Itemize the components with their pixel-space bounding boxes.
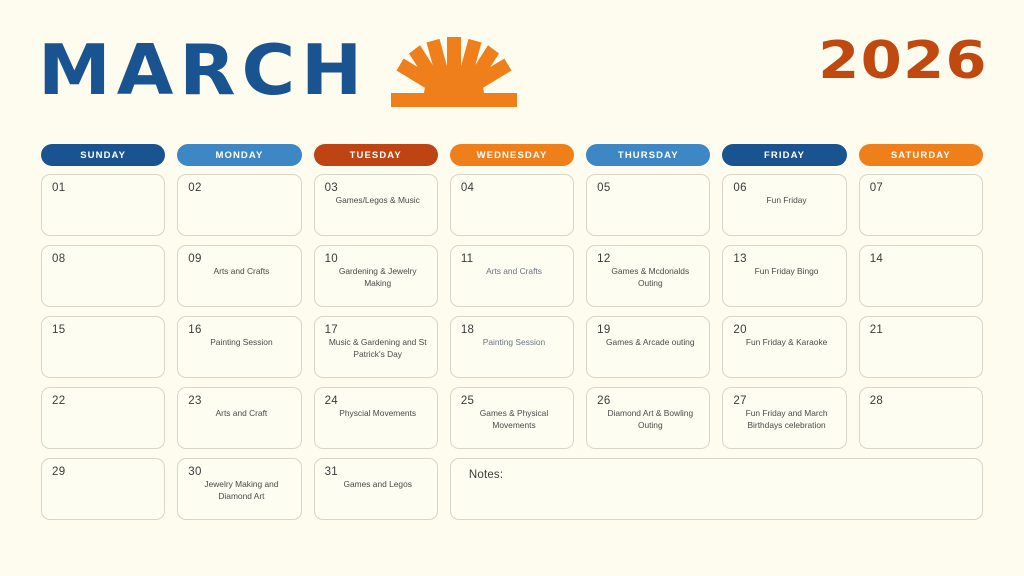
- day-cell-26[interactable]: 26Diamond Art & Bowling Outing: [586, 387, 710, 449]
- day-cell-09[interactable]: 09Arts and Crafts: [177, 245, 301, 307]
- day-cell-15[interactable]: 15: [41, 316, 165, 378]
- month-title: MARCH: [38, 28, 368, 113]
- day-event-text: Fun Friday and March Birthdays celebrati…: [733, 408, 839, 431]
- day-event-text: Arts and Craft: [188, 408, 294, 420]
- day-event-text: Games & Mcdonalds Outing: [597, 266, 703, 289]
- day-number: 11: [461, 253, 567, 266]
- day-event-text: Painting Session: [188, 337, 294, 349]
- day-header-monday: MONDAY: [177, 144, 301, 166]
- day-cell-14[interactable]: 14: [859, 245, 983, 307]
- day-cell-31[interactable]: 31Games and Legos: [314, 458, 438, 520]
- day-number: 27: [733, 395, 839, 408]
- day-number: 28: [870, 395, 976, 408]
- day-cell-27[interactable]: 27Fun Friday and March Birthdays celebra…: [722, 387, 846, 449]
- calendar-week-row: 2223Arts and Craft24Physcial Movements25…: [41, 387, 983, 449]
- day-cell-25[interactable]: 25Games & Physical Movements: [450, 387, 574, 449]
- day-event-text: Jewelry Making and Diamond Art: [188, 479, 294, 502]
- day-cell-19[interactable]: 19Games & Arcade outing: [586, 316, 710, 378]
- day-cell-10[interactable]: 10Gardening & Jewelry Making: [314, 245, 438, 307]
- day-cell-08[interactable]: 08: [41, 245, 165, 307]
- day-number: 29: [52, 466, 158, 479]
- day-cell-17[interactable]: 17Music & Gardening and St Patrick's Day: [314, 316, 438, 378]
- day-cell-29[interactable]: 29: [41, 458, 165, 520]
- day-number: 03: [325, 182, 431, 195]
- day-event-text: Fun Friday: [733, 195, 839, 207]
- day-number: 02: [188, 182, 294, 195]
- day-number: 01: [52, 182, 158, 195]
- day-cell-22[interactable]: 22: [41, 387, 165, 449]
- day-number: 23: [188, 395, 294, 408]
- notes-box[interactable]: Notes:: [450, 458, 983, 520]
- calendar-page: MARCH 2026 SUNDAYMONDAYTUESDAYWEDNESDAYT…: [0, 0, 1024, 576]
- day-number: 09: [188, 253, 294, 266]
- calendar-week-row: 010203Games/Legos & Music040506Fun Frida…: [41, 174, 983, 236]
- day-cell-07[interactable]: 07: [859, 174, 983, 236]
- day-header-friday: FRIDAY: [722, 144, 846, 166]
- day-event-text: Painting Session: [461, 337, 567, 349]
- day-header-sunday: SUNDAY: [41, 144, 165, 166]
- day-number: 31: [325, 466, 431, 479]
- day-number: 25: [461, 395, 567, 408]
- day-number: 12: [597, 253, 703, 266]
- day-cell-16[interactable]: 16Painting Session: [177, 316, 301, 378]
- day-header-saturday: SATURDAY: [859, 144, 983, 166]
- day-of-week-header-row: SUNDAYMONDAYTUESDAYWEDNESDAYTHURSDAYFRID…: [41, 144, 983, 166]
- day-number: 22: [52, 395, 158, 408]
- day-event-text: Music & Gardening and St Patrick's Day: [325, 337, 431, 360]
- day-number: 26: [597, 395, 703, 408]
- day-cell-18[interactable]: 18Painting Session: [450, 316, 574, 378]
- day-number: 07: [870, 182, 976, 195]
- day-event-text: Games and Legos: [325, 479, 431, 491]
- day-cell-30[interactable]: 30Jewelry Making and Diamond Art: [177, 458, 301, 520]
- day-cell-24[interactable]: 24Physcial Movements: [314, 387, 438, 449]
- day-number: 18: [461, 324, 567, 337]
- day-event-text: Fun Friday Bingo: [733, 266, 839, 278]
- day-number: 30: [188, 466, 294, 479]
- day-cell-21[interactable]: 21: [859, 316, 983, 378]
- day-cell-04[interactable]: 04: [450, 174, 574, 236]
- calendar-header: MARCH 2026: [0, 0, 1024, 132]
- day-event-text: Games & Arcade outing: [597, 337, 703, 349]
- day-cell-23[interactable]: 23Arts and Craft: [177, 387, 301, 449]
- day-number: 14: [870, 253, 976, 266]
- year-title: 2026: [818, 30, 988, 92]
- day-number: 15: [52, 324, 158, 337]
- day-cell-20[interactable]: 20Fun Friday & Karaoke: [722, 316, 846, 378]
- day-cell-01[interactable]: 01: [41, 174, 165, 236]
- day-header-thursday: THURSDAY: [586, 144, 710, 166]
- day-number: 17: [325, 324, 431, 337]
- day-number: 10: [325, 253, 431, 266]
- day-cell-05[interactable]: 05: [586, 174, 710, 236]
- day-cell-02[interactable]: 02: [177, 174, 301, 236]
- day-cell-12[interactable]: 12Games & Mcdonalds Outing: [586, 245, 710, 307]
- calendar-week-row: 0809Arts and Crafts10Gardening & Jewelry…: [41, 245, 983, 307]
- day-number: 24: [325, 395, 431, 408]
- day-cell-28[interactable]: 28: [859, 387, 983, 449]
- day-number: 13: [733, 253, 839, 266]
- day-header-wednesday: WEDNESDAY: [450, 144, 574, 166]
- day-cell-03[interactable]: 03Games/Legos & Music: [314, 174, 438, 236]
- day-number: 06: [733, 182, 839, 195]
- day-number: 04: [461, 182, 567, 195]
- day-number: 19: [597, 324, 703, 337]
- day-number: 08: [52, 253, 158, 266]
- calendar-week-row: 1516Painting Session17Music & Gardening …: [41, 316, 983, 378]
- day-event-text: Fun Friday & Karaoke: [733, 337, 839, 349]
- day-cell-11[interactable]: 11Arts and Crafts: [450, 245, 574, 307]
- day-event-text: Games/Legos & Music: [325, 195, 431, 207]
- day-number: 21: [870, 324, 976, 337]
- calendar-weeks: 010203Games/Legos & Music040506Fun Frida…: [41, 174, 983, 520]
- sunburst-icon: [391, 33, 517, 107]
- day-cell-13[interactable]: 13Fun Friday Bingo: [722, 245, 846, 307]
- day-event-text: Arts and Crafts: [188, 266, 294, 278]
- day-event-text: Games & Physical Movements: [461, 408, 567, 431]
- day-cell-06[interactable]: 06Fun Friday: [722, 174, 846, 236]
- calendar-grid: SUNDAYMONDAYTUESDAYWEDNESDAYTHURSDAYFRID…: [41, 144, 983, 529]
- day-number: 16: [188, 324, 294, 337]
- day-header-tuesday: TUESDAY: [314, 144, 438, 166]
- day-number: 05: [597, 182, 703, 195]
- day-event-text: Gardening & Jewelry Making: [325, 266, 431, 289]
- day-event-text: Arts and Crafts: [461, 266, 567, 278]
- calendar-week-row: 2930Jewelry Making and Diamond Art31Game…: [41, 458, 983, 520]
- day-number: 20: [733, 324, 839, 337]
- notes-label: Notes:: [469, 469, 982, 481]
- day-event-text: Physcial Movements: [325, 408, 431, 420]
- day-event-text: Diamond Art & Bowling Outing: [597, 408, 703, 431]
